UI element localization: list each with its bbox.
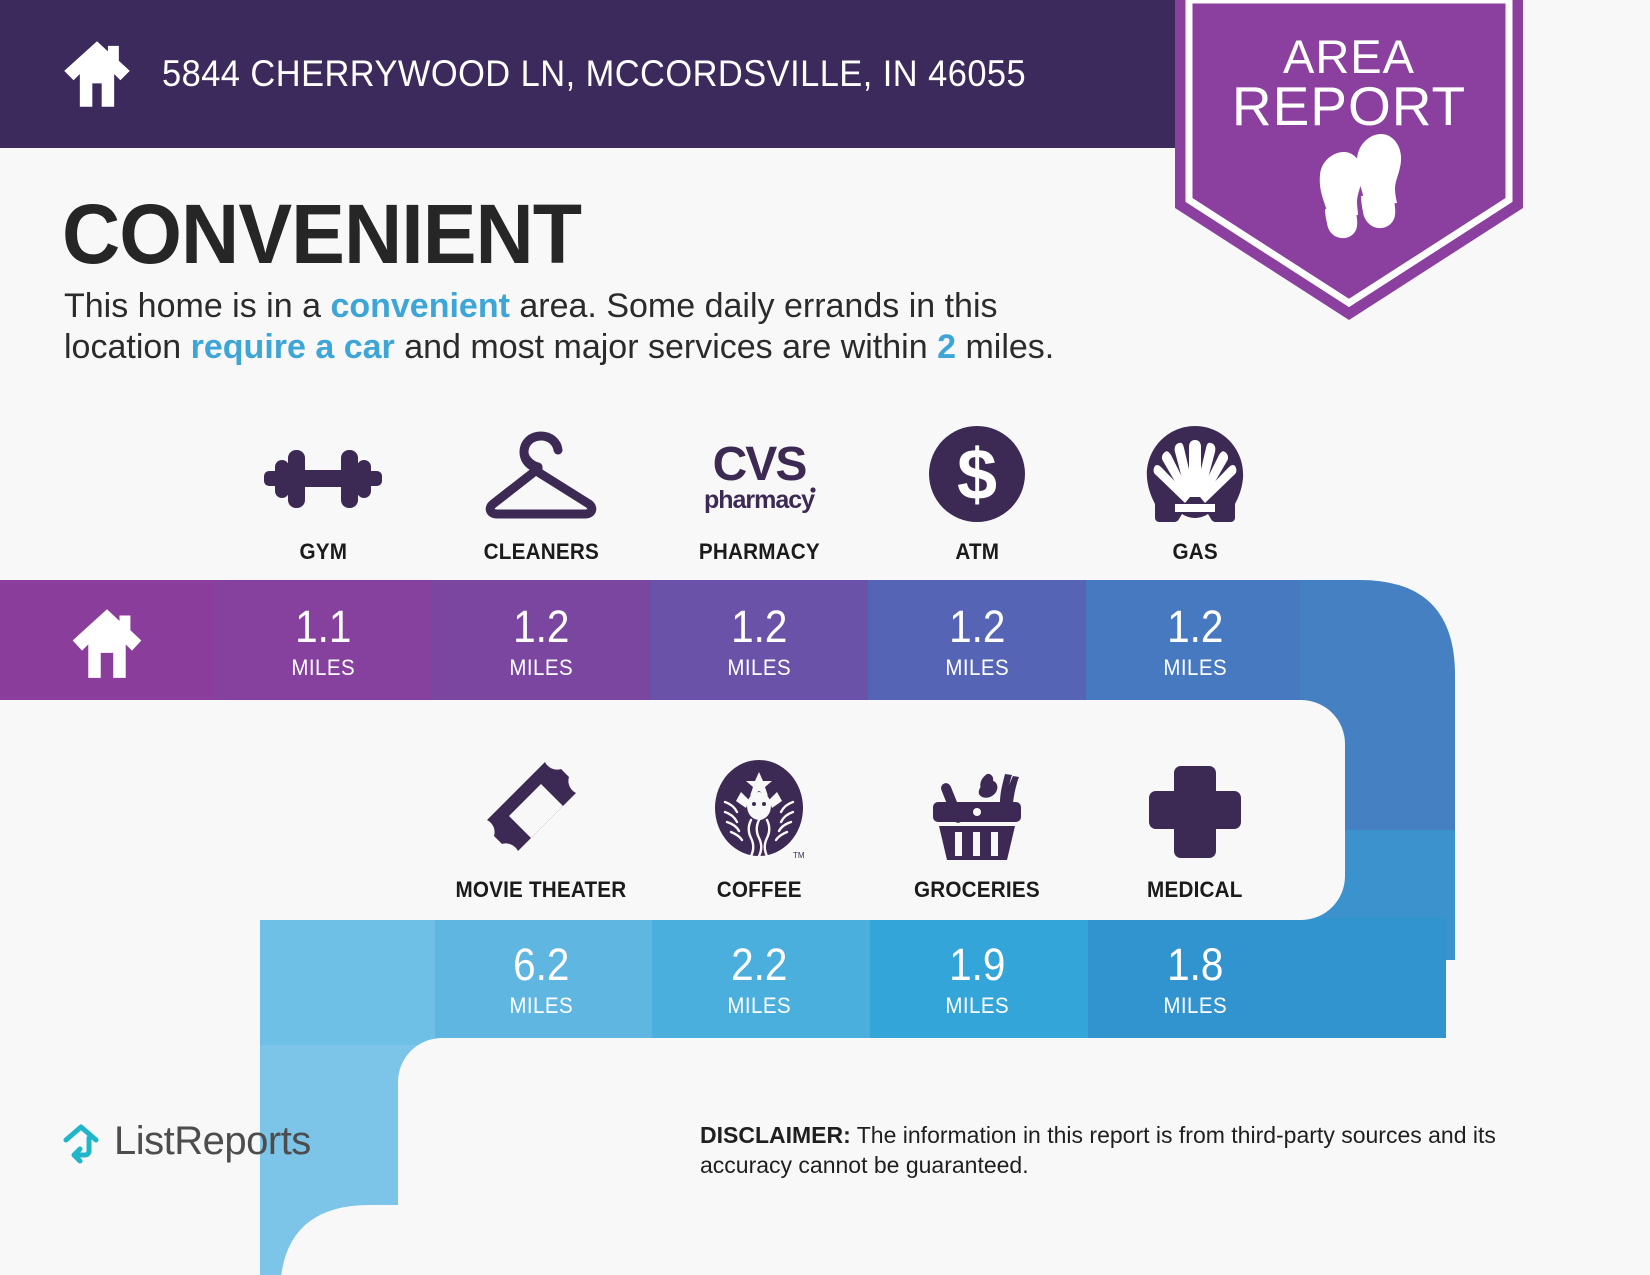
service-label: PHARMACY (699, 539, 820, 565)
listreports-logo[interactable]: ListReports (58, 1118, 311, 1164)
service-label: GYM (299, 539, 347, 565)
badge-line-1: AREA (1175, 34, 1523, 80)
area-report-page: 5844 CHERRYWOOD LN, MCCORDSVILLE, IN 460… (0, 0, 1650, 1275)
header-bar: 5844 CHERRYWOOD LN, MCCORDSVILLE, IN 460… (0, 0, 1175, 148)
page-subtitle: This home is in a convenient area. Some … (64, 286, 1094, 369)
icon-row-top: GYM CLEANERS CVS pharmacy PHARMACY (214, 424, 1304, 565)
home-location-marker (0, 580, 214, 704)
subtitle-part-3: and most major services are within (395, 328, 937, 366)
header-address: 5844 CHERRYWOOD LN, MCCORDSVILLE, IN 460… (162, 53, 1026, 95)
service-label: GAS (1172, 539, 1217, 565)
area-report-badge: AREA REPORT (1175, 0, 1523, 320)
dollar-circle-icon: $ (927, 424, 1027, 524)
basket-icon (921, 762, 1033, 862)
service-groceries[interactable]: GROCERIES (868, 762, 1086, 903)
house-icon (68, 606, 146, 678)
service-label: COFFEE (716, 877, 801, 903)
service-pharmacy[interactable]: CVS pharmacy PHARMACY (650, 424, 868, 565)
starbucks-icon: TM (711, 762, 807, 862)
service-label: CLEANERS (483, 539, 598, 565)
disclaimer-label: DISCLAIMER: (700, 1122, 851, 1148)
service-gym[interactable]: GYM (214, 424, 432, 565)
svg-text:CVS: CVS (713, 438, 807, 491)
subtitle-part-1: This home is in a (64, 287, 330, 325)
service-label: MEDICAL (1147, 877, 1243, 903)
page-title: CONVENIENT (62, 186, 581, 283)
listreports-house-icon (58, 1118, 104, 1164)
subtitle-highlight-1: convenient (330, 287, 509, 325)
shell-icon (1143, 424, 1247, 524)
service-label: GROCERIES (914, 877, 1040, 903)
house-icon (58, 35, 136, 113)
service-label: MOVIE THEATER (456, 877, 627, 903)
disclaimer: DISCLAIMER: The information in this repo… (700, 1120, 1520, 1181)
badge-title: AREA REPORT (1175, 34, 1523, 134)
icon-row-bottom: MOVIE THEATER (432, 762, 1304, 903)
service-atm[interactable]: $ ATM (868, 424, 1086, 565)
subtitle-part-4: miles. (956, 328, 1054, 366)
dumbbell-icon (260, 424, 386, 524)
service-coffee[interactable]: TM COFFEE (650, 762, 868, 903)
logo-text: ListReports (114, 1119, 311, 1164)
subtitle-highlight-2: require a car (191, 328, 395, 366)
service-gas[interactable]: GAS (1086, 424, 1304, 565)
hanger-icon (481, 424, 601, 524)
ticket-icon (483, 762, 599, 862)
cvs-pharmacy-icon: CVS pharmacy (691, 424, 827, 524)
service-medical[interactable]: MEDICAL (1086, 762, 1304, 903)
cross-icon (1143, 762, 1247, 862)
service-movie-theater[interactable]: MOVIE THEATER (432, 762, 650, 903)
svg-text:$: $ (957, 435, 997, 515)
subtitle-highlight-3: 2 (937, 328, 956, 366)
svg-text:TM: TM (793, 851, 805, 860)
service-cleaners[interactable]: CLEANERS (432, 424, 650, 565)
badge-line-2: REPORT (1175, 80, 1523, 134)
service-label: ATM (955, 539, 999, 565)
svg-text:pharmacy: pharmacy (704, 486, 815, 514)
